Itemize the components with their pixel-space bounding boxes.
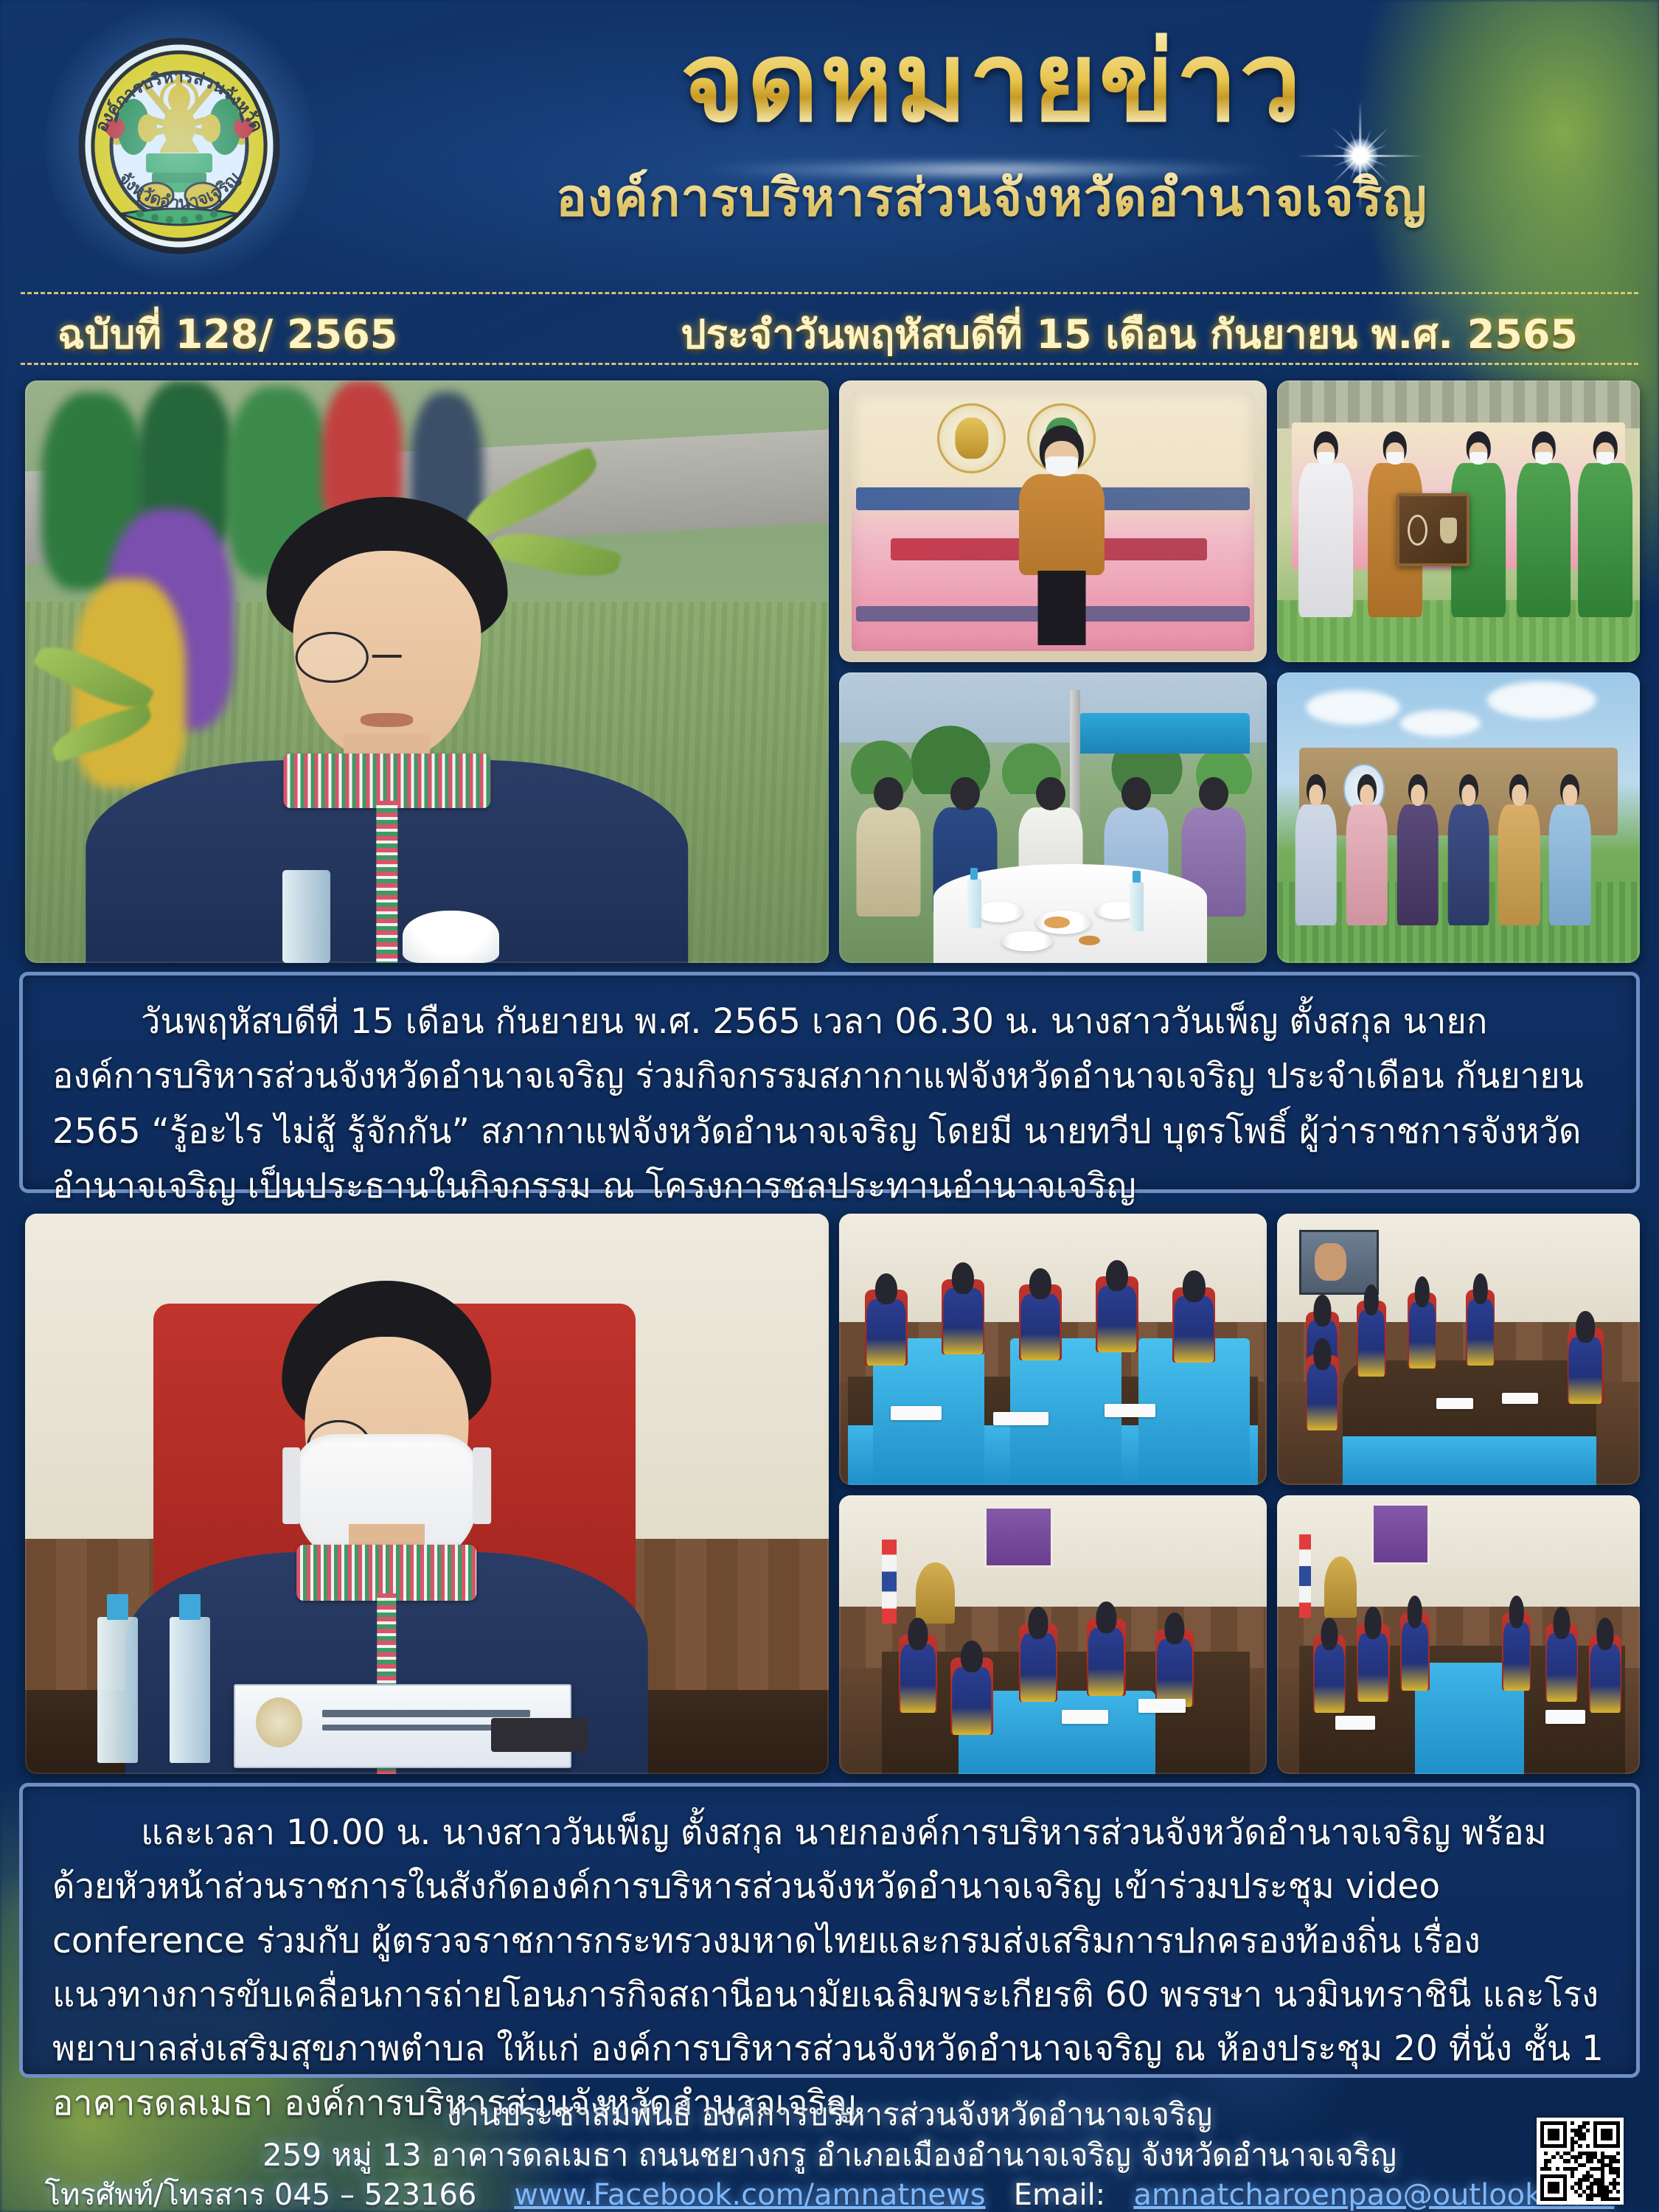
page-title: จดหมายข่าว [457, 21, 1526, 145]
photo-grid-video-conference [25, 1214, 1634, 1774]
photo-grid-morning-talk [25, 380, 1634, 963]
photo-award-handover [1277, 380, 1640, 662]
divider-bottom [21, 363, 1638, 365]
caption-text-video-conference: และเวลา 10.00 น. นางสาววันเพ็ญ ตั้งสกุล … [52, 1806, 1607, 2130]
photo-portrait-outdoor [25, 380, 829, 963]
email-label: Email: [1014, 2178, 1105, 2212]
caption-box-morning-talk: วันพฤหัสบดีที่ 15 เดือน กันยายน พ.ศ. 256… [19, 972, 1640, 1193]
page-footer: งานประชาสัมพันธ์ องค์การบริหารส่วนจังหวั… [0, 2094, 1659, 2212]
photo-meeting-room-1 [839, 1214, 1267, 1485]
issue-bar: ฉบับที่ 128/ 2565 ประจำวันพฤหัสบดีที่ 15… [0, 293, 1659, 363]
footer-contact: โทรศัพท์/โทรสาร 045 – 523166 www.Faceboo… [0, 2176, 1659, 2212]
photo-meeting-room-4 [1277, 1495, 1640, 1774]
caption-text-morning-talk: วันพฤหัสบดีที่ 15 เดือน กันยายน พ.ศ. 256… [52, 995, 1607, 1214]
header-title-block: จดหมายข่าว องค์การบริหารส่วนจังหวัดอำนาจ… [457, 21, 1526, 238]
provincial-emblem: องค์การบริหารส่วนจังหวัด จังหวัดอำนาจเจร… [58, 16, 301, 271]
facebook-link[interactable]: www.Facebook.com/amnatnews [514, 2178, 985, 2212]
qr-code-icon[interactable] [1537, 2118, 1624, 2205]
footer-phone: โทรศัพท์/โทรสาร 045 – 523166 [45, 2178, 477, 2212]
photo-coffee-table [839, 672, 1267, 963]
photo-group-backdrop [1277, 672, 1640, 963]
footer-address: 259 หมู่ 13 อาคารดลเมธา ถนนชยางกรู อำเภอ… [0, 2135, 1659, 2175]
photo-stage-banner [839, 380, 1267, 662]
photo-office-portrait [25, 1214, 829, 1774]
issue-date: ประจำวันพฤหัสบดีที่ 15 เดือน กันยายน พ.ศ… [681, 302, 1578, 366]
footer-org: งานประชาสัมพันธ์ องค์การบริหารส่วนจังหวั… [0, 2094, 1659, 2135]
emblem-halo [44, 3, 314, 284]
newsletter-page: องค์การบริหารส่วนจังหวัด จังหวัดอำนาจเจร… [0, 0, 1659, 2212]
photo-meeting-room-3 [839, 1495, 1267, 1774]
issue-number: ฉบับที่ 128/ 2565 [58, 302, 397, 366]
caption-box-video-conference: และเวลา 10.00 น. นางสาววันเพ็ญ ตั้งสกุล … [19, 1783, 1640, 2078]
page-header: องค์การบริหารส่วนจังหวัด จังหวัดอำนาจเจร… [0, 0, 1659, 292]
photo-meeting-room-2 [1277, 1214, 1640, 1485]
page-subtitle: องค์การบริหารส่วนจังหวัดอำนาจเจริญ [457, 156, 1526, 238]
